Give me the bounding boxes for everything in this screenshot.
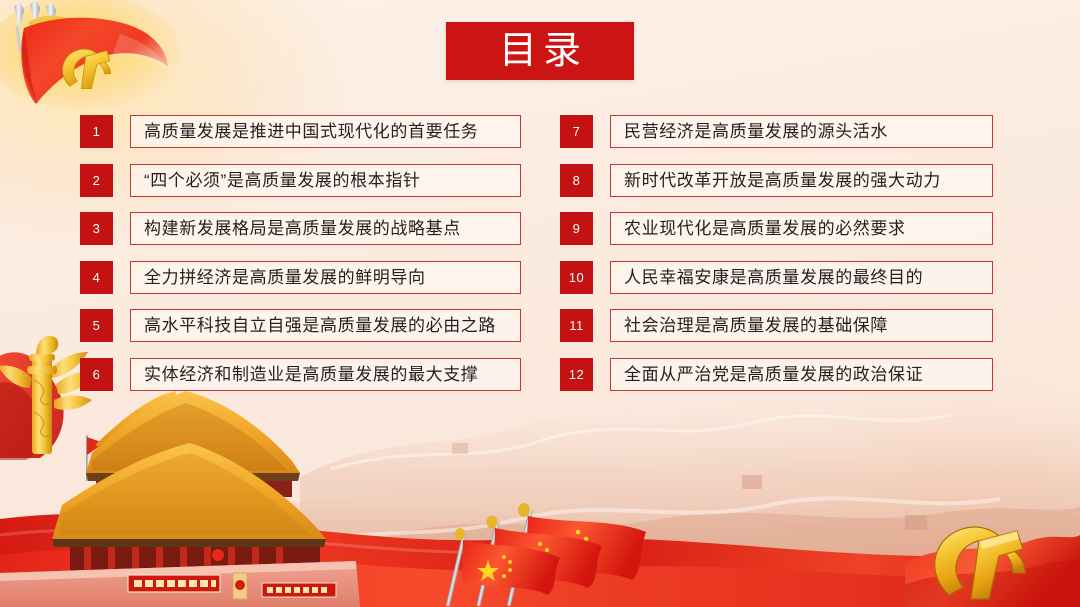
toc-item-box[interactable]: 高质量发展是推进中国式现代化的首要任务 bbox=[130, 115, 521, 148]
toc-item-number: 11 bbox=[560, 309, 593, 342]
toc-item[interactable]: 10 人民幸福安康是高质量发展的最终目的 bbox=[560, 261, 993, 294]
toc-item-label: 民营经济是高质量发展的源头活水 bbox=[611, 123, 888, 140]
toc-item[interactable]: 12 全面从严治党是高质量发展的政治保证 bbox=[560, 358, 993, 391]
toc-item-box[interactable]: 高水平科技自立自强是高质量发展的必由之路 bbox=[130, 309, 521, 342]
toc-item[interactable]: 3 构建新发展格局是高质量发展的战略基点 bbox=[80, 212, 521, 245]
toc-item-label: 高质量发展是推进中国式现代化的首要任务 bbox=[131, 123, 478, 140]
presentation-slide: 目录 1 高质量发展是推进中国式现代化的首要任务 2 “四个必须”是高质量发展的… bbox=[0, 0, 1080, 607]
toc-item-number: 8 bbox=[560, 164, 593, 197]
tiananmen-banner-left bbox=[128, 575, 220, 592]
party-flag-icon bbox=[0, 0, 185, 112]
toc-item-box[interactable]: 实体经济和制造业是高质量发展的最大支撑 bbox=[130, 358, 521, 391]
toc-item-label: 人民幸福安康是高质量发展的最终目的 bbox=[611, 269, 923, 286]
toc-item[interactable]: 8 新时代改革开放是高质量发展的强大动力 bbox=[560, 164, 993, 197]
toc-item-label: 新时代改革开放是高质量发展的强大动力 bbox=[611, 172, 941, 189]
toc-item-number: 5 bbox=[80, 309, 113, 342]
toc-item-number: 6 bbox=[80, 358, 113, 391]
toc-item-number: 9 bbox=[560, 212, 593, 245]
toc-item-number: 2 bbox=[80, 164, 113, 197]
page-title-text: 目录 bbox=[493, 32, 587, 70]
toc-item[interactable]: 7 民营经济是高质量发展的源头活水 bbox=[560, 115, 993, 148]
toc-item-label: 实体经济和制造业是高质量发展的最大支撑 bbox=[131, 366, 478, 383]
toc-item-label: 农业现代化是高质量发展的必然要求 bbox=[611, 220, 906, 237]
toc-item-number: 3 bbox=[80, 212, 113, 245]
toc-item-number: 10 bbox=[560, 261, 593, 294]
toc-item-label: 构建新发展格局是高质量发展的战略基点 bbox=[131, 220, 461, 237]
toc-item-box[interactable]: 农业现代化是高质量发展的必然要求 bbox=[610, 212, 993, 245]
toc-item[interactable]: 2 “四个必须”是高质量发展的根本指针 bbox=[80, 164, 521, 197]
toc-item-label: 社会治理是高质量发展的基础保障 bbox=[611, 317, 888, 334]
tiananmen-banner-right bbox=[262, 583, 336, 597]
toc-item-box[interactable]: 新时代改革开放是高质量发展的强大动力 bbox=[610, 164, 993, 197]
toc-item[interactable]: 1 高质量发展是推进中国式现代化的首要任务 bbox=[80, 115, 521, 148]
toc-item-number: 12 bbox=[560, 358, 593, 391]
page-title: 目录 bbox=[446, 22, 634, 80]
toc-item-number: 1 bbox=[80, 115, 113, 148]
toc-item-label: 全力拼经济是高质量发展的鲜明导向 bbox=[131, 269, 426, 286]
toc-item-label: 高水平科技自立自强是高质量发展的必由之路 bbox=[131, 317, 496, 334]
toc-item-label: 全面从严治党是高质量发展的政治保证 bbox=[611, 366, 923, 383]
toc-item-number: 4 bbox=[80, 261, 113, 294]
toc-item[interactable]: 5 高水平科技自立自强是高质量发展的必由之路 bbox=[80, 309, 521, 342]
toc-item-box[interactable]: 构建新发展格局是高质量发展的战略基点 bbox=[130, 212, 521, 245]
toc-item-box[interactable]: 民营经济是高质量发展的源头活水 bbox=[610, 115, 993, 148]
toc-item-box[interactable]: 全面从严治党是高质量发展的政治保证 bbox=[610, 358, 993, 391]
china-national-flag-icon bbox=[410, 502, 670, 607]
toc-item[interactable]: 11 社会治理是高质量发展的基础保障 bbox=[560, 309, 993, 342]
toc-item-box[interactable]: “四个必须”是高质量发展的根本指针 bbox=[130, 164, 521, 197]
toc-item-label: “四个必须”是高质量发展的根本指针 bbox=[131, 172, 421, 189]
toc-item-number: 7 bbox=[560, 115, 593, 148]
toc-item-box[interactable]: 全力拼经济是高质量发展的鲜明导向 bbox=[130, 261, 521, 294]
toc-item[interactable]: 9 农业现代化是高质量发展的必然要求 bbox=[560, 212, 993, 245]
hammer-sickle-emblem-icon bbox=[905, 507, 1080, 607]
toc-item[interactable]: 6 实体经济和制造业是高质量发展的最大支撑 bbox=[80, 358, 521, 391]
toc-item[interactable]: 4 全力拼经济是高质量发展的鲜明导向 bbox=[80, 261, 521, 294]
table-of-contents: 1 高质量发展是推进中国式现代化的首要任务 2 “四个必须”是高质量发展的根本指… bbox=[0, 115, 1080, 405]
toc-item-box[interactable]: 人民幸福安康是高质量发展的最终目的 bbox=[610, 261, 993, 294]
toc-item-box[interactable]: 社会治理是高质量发展的基础保障 bbox=[610, 309, 993, 342]
